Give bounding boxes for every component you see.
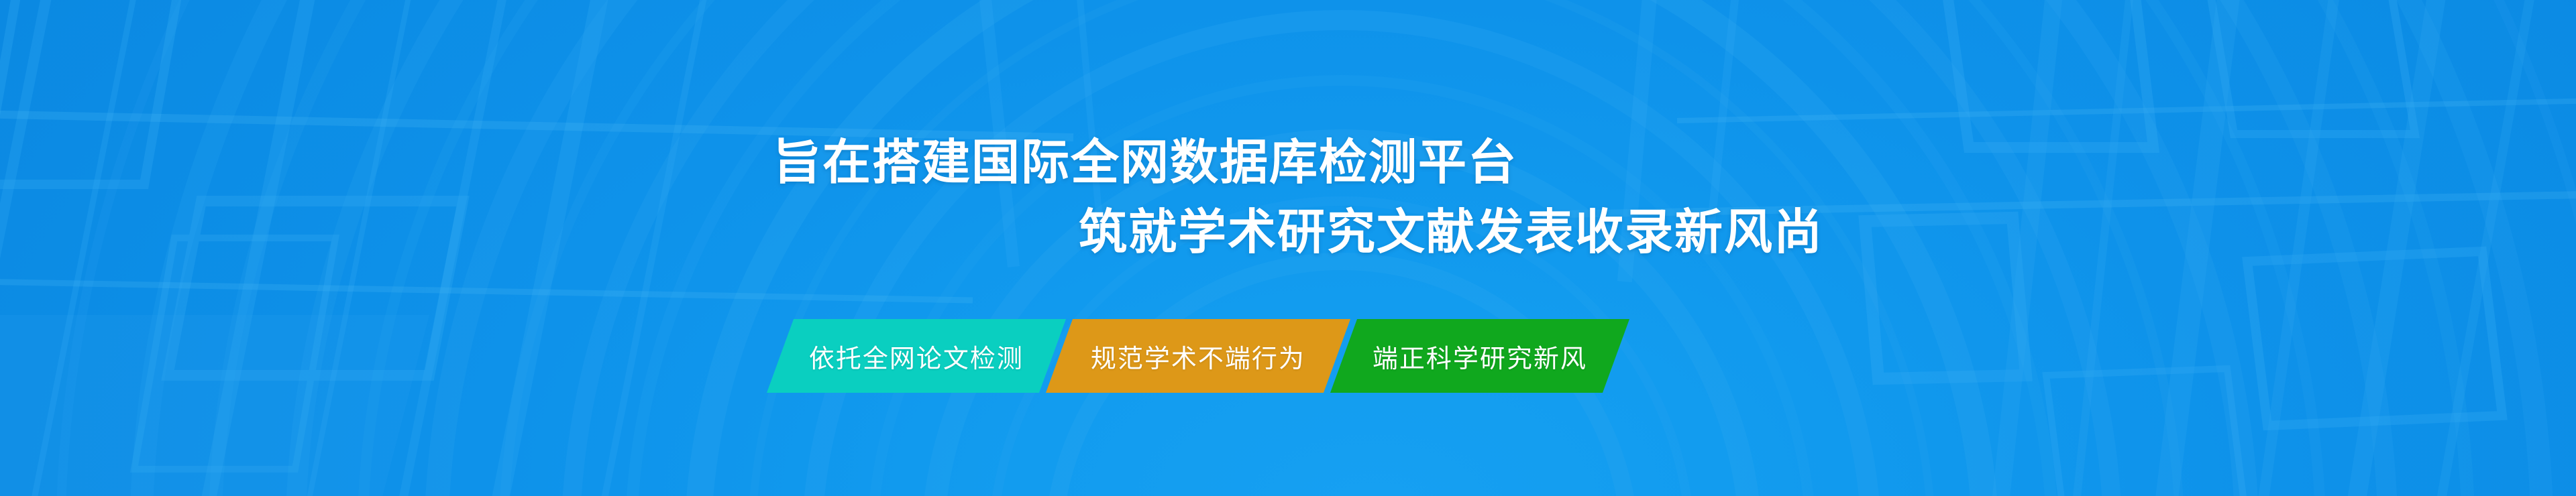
feature-badge-3-label: 端正科学研究新风	[1373, 338, 1587, 375]
feature-badge-1[interactable]: 依托全网论文检测	[767, 319, 1066, 393]
feature-badge-strip: 依托全网论文检测 规范学术不端行为 端正科学研究新风	[780, 319, 1616, 393]
headline-line-1: 旨在搭建国际全网数据库检测平台	[0, 127, 2576, 197]
feature-badge-1-label: 依托全网论文检测	[809, 338, 1024, 375]
promotional-banner: 旨在搭建国际全网数据库检测平台 筑就学术研究文献发表收录新风尚 依托全网论文检测…	[0, 0, 2576, 496]
feature-badge-3[interactable]: 端正科学研究新风	[1330, 319, 1629, 393]
feature-badge-2[interactable]: 规范学术不端行为	[1046, 319, 1350, 393]
bottom-left-panel	[0, 315, 429, 496]
headline-line-2: 筑就学术研究文献发表收录新风尚	[0, 197, 2576, 267]
headline-block: 旨在搭建国际全网数据库检测平台 筑就学术研究文献发表收录新风尚	[0, 127, 2576, 267]
feature-badge-2-label: 规范学术不端行为	[1091, 338, 1305, 375]
